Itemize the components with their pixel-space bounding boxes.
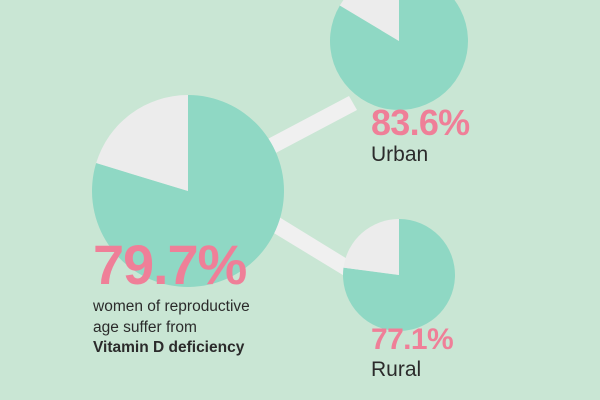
overall-caption-line-2: age suffer from [93, 319, 197, 336]
urban-percent-value: 83.6% [371, 106, 469, 140]
urban-caption: Urban [371, 143, 469, 167]
rural-caption: Rural [371, 358, 453, 382]
pie-rural [343, 219, 455, 331]
pie-rural-slice-remainder [343, 219, 399, 275]
urban-stat-label: 83.6% Urban [371, 106, 469, 167]
overall-percent-value: 79.7% [93, 238, 313, 291]
overall-caption: women of reproductive age suffer from Vi… [93, 297, 313, 359]
rural-percent-value: 77.1% [371, 326, 453, 355]
overall-stat-label: 79.7% women of reproductive age suffer f… [93, 238, 313, 359]
infographic-canvas: 79.7% women of reproductive age suffer f… [0, 0, 600, 400]
connector-main-to-urban [262, 96, 357, 156]
rural-stat-label: 77.1% Rural [371, 326, 453, 382]
overall-caption-line-1: women of reproductive [93, 298, 250, 315]
pie-urban [330, 0, 468, 110]
overall-caption-line-3: Vitamin D deficiency [93, 339, 244, 356]
